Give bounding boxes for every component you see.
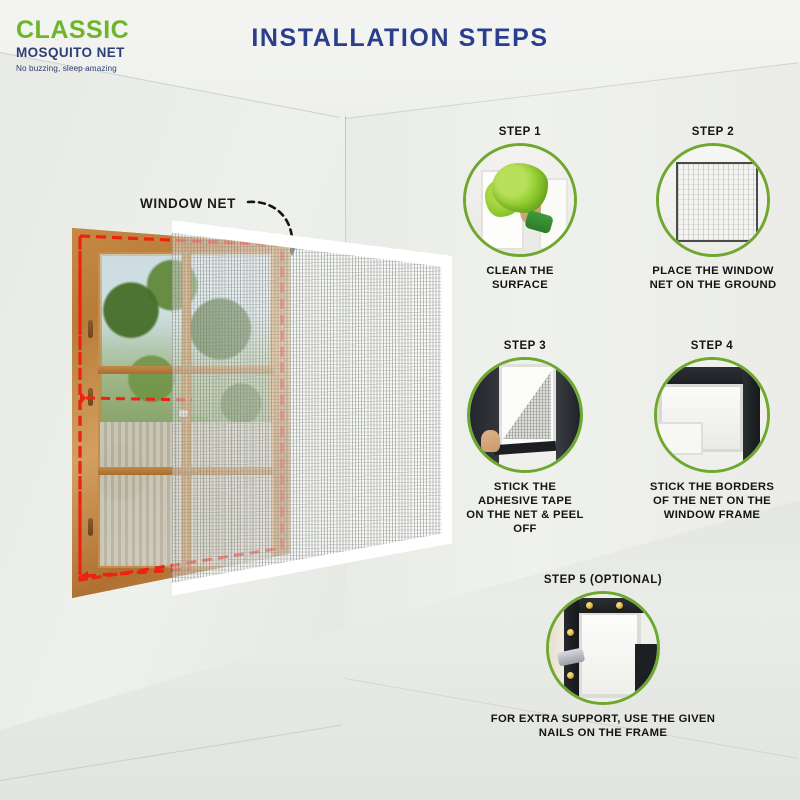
step-2-title: STEP 2 xyxy=(638,126,788,138)
frame-border-icon xyxy=(657,360,767,470)
window-hinge-lower xyxy=(88,518,93,536)
step-card-1: STEP 1 CLEAN THE SURFACE xyxy=(455,126,585,292)
step-5-title: STEP 5 (OPTIONAL) xyxy=(480,574,726,586)
step-card-3: STEP 3 STICK THE ADHESIVE TAPE ON THE NE… xyxy=(455,340,595,536)
step-5-image xyxy=(546,591,660,705)
step-4-caption: STICK THE BORDERS OF THE NET ON THE WIND… xyxy=(636,480,788,522)
step-card-5: STEP 5 (OPTIONAL) FOR EXTRA SUPPORT, USE… xyxy=(480,574,726,740)
step-1-title: STEP 1 xyxy=(455,126,585,138)
step-2-image xyxy=(656,143,770,257)
step-4-title: STEP 4 xyxy=(636,340,788,352)
step-card-4: STEP 4 STICK THE BORDERS OF THE NET ON T… xyxy=(636,340,788,522)
infographic-canvas: CLASSIC MOSQUITO NET No buzzing, sleep a… xyxy=(0,0,800,800)
step-1-image xyxy=(463,143,577,257)
window-hinge-middle xyxy=(88,388,93,406)
step-3-caption: STICK THE ADHESIVE TAPE ON THE NET & PEE… xyxy=(455,480,595,536)
step-card-2: STEP 2 PLACE THE WINDOW NET ON THE GROUN… xyxy=(638,126,788,292)
peel-tape-icon xyxy=(470,360,580,470)
mosquito-net-sheet xyxy=(172,220,452,596)
nails-frame-icon xyxy=(549,594,657,702)
step-3-title: STEP 3 xyxy=(455,340,595,352)
step-5-caption: FOR EXTRA SUPPORT, USE THE GIVEN NAILS O… xyxy=(480,712,726,740)
net-square-icon xyxy=(659,146,767,254)
step-1-caption: CLEAN THE SURFACE xyxy=(455,264,585,292)
step-2-caption: PLACE THE WINDOW NET ON THE GROUND xyxy=(638,264,788,292)
brand-tagline: No buzzing, sleep amazing xyxy=(16,65,166,73)
window-hinge-upper xyxy=(88,320,93,338)
step-4-image xyxy=(654,357,770,473)
window-net-diagram xyxy=(72,228,412,598)
cleaning-cloth-icon xyxy=(466,146,574,254)
window-net-callout-label: WINDOW NET xyxy=(140,196,236,211)
page-title: INSTALLATION STEPS xyxy=(0,24,800,53)
step-3-image xyxy=(467,357,583,473)
